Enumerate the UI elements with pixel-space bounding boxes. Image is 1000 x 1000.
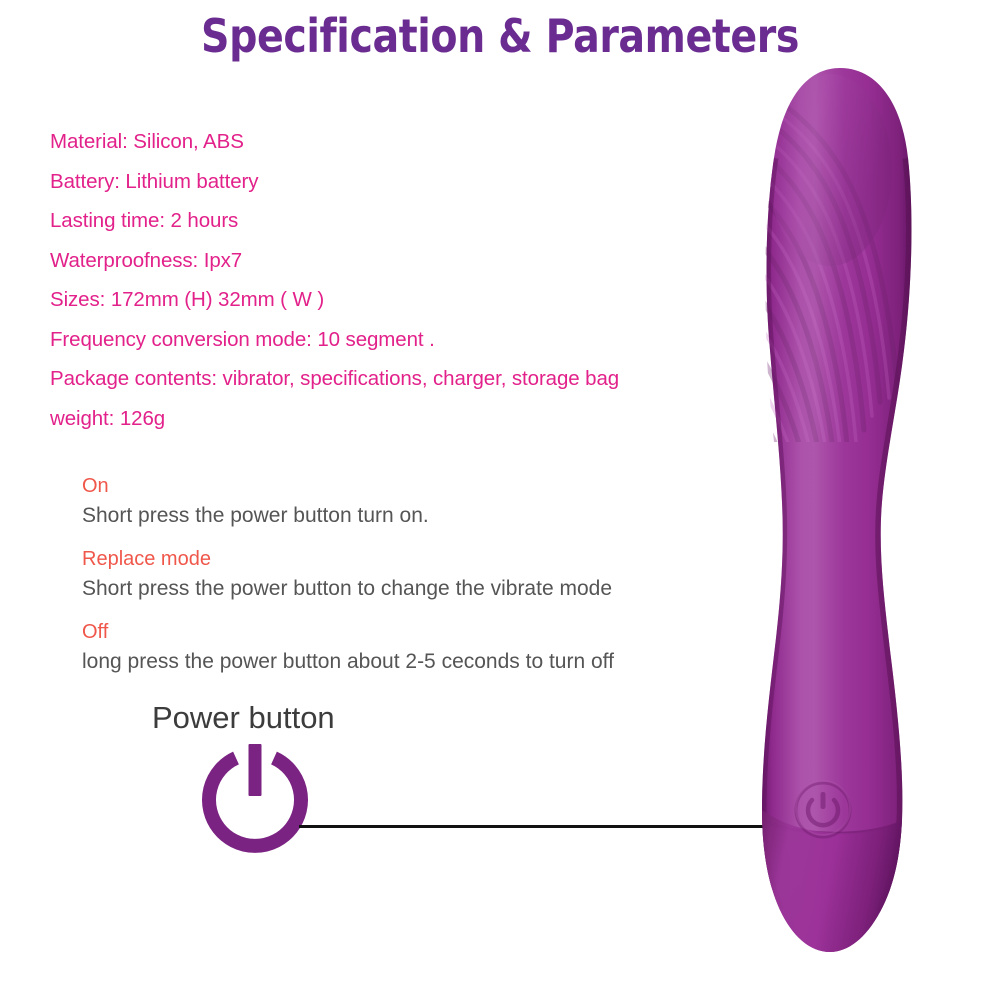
instruction-heading-on: On <box>82 472 722 500</box>
spec-line-material: Material: Silicon, ABS <box>50 122 690 162</box>
spec-line-sizes: Sizes: 172mm (H) 32mm ( W ) <box>50 280 690 320</box>
product-body <box>696 68 912 952</box>
spec-line-package: Package contents: vibrator, specificatio… <box>50 359 690 399</box>
power-button-label: Power button <box>152 698 335 738</box>
power-icon <box>196 742 314 866</box>
instruction-block-replace-mode: Replace mode Short press the power butto… <box>82 545 722 604</box>
instruction-block-off: Off long press the power button about 2-… <box>82 618 722 677</box>
instruction-block-on: On Short press the power button turn on. <box>82 472 722 531</box>
spec-line-waterproof: Waterproofness: Ipx7 <box>50 241 690 281</box>
instruction-heading-off: Off <box>82 618 722 646</box>
spec-line-weight: weight: 126g <box>50 399 690 439</box>
spec-line-frequency: Frequency conversion mode: 10 segment . <box>50 320 690 360</box>
product-spec-page: Specification & Parameters Material: Sil… <box>0 0 1000 1000</box>
instruction-body-off: long press the power button about 2-5 ce… <box>82 646 722 677</box>
product-image <box>690 50 1000 1000</box>
instruction-heading-replace-mode: Replace mode <box>82 545 722 573</box>
instruction-body-on: Short press the power button turn on. <box>82 500 722 531</box>
instruction-body-replace-mode: Short press the power button to change t… <box>82 573 722 604</box>
usage-instructions: On Short press the power button turn on.… <box>82 472 722 677</box>
spec-line-battery: Battery: Lithium battery <box>50 162 690 202</box>
spec-line-lasting-time: Lasting time: 2 hours <box>50 201 690 241</box>
specification-list: Material: Silicon, ABS Battery: Lithium … <box>50 122 690 438</box>
